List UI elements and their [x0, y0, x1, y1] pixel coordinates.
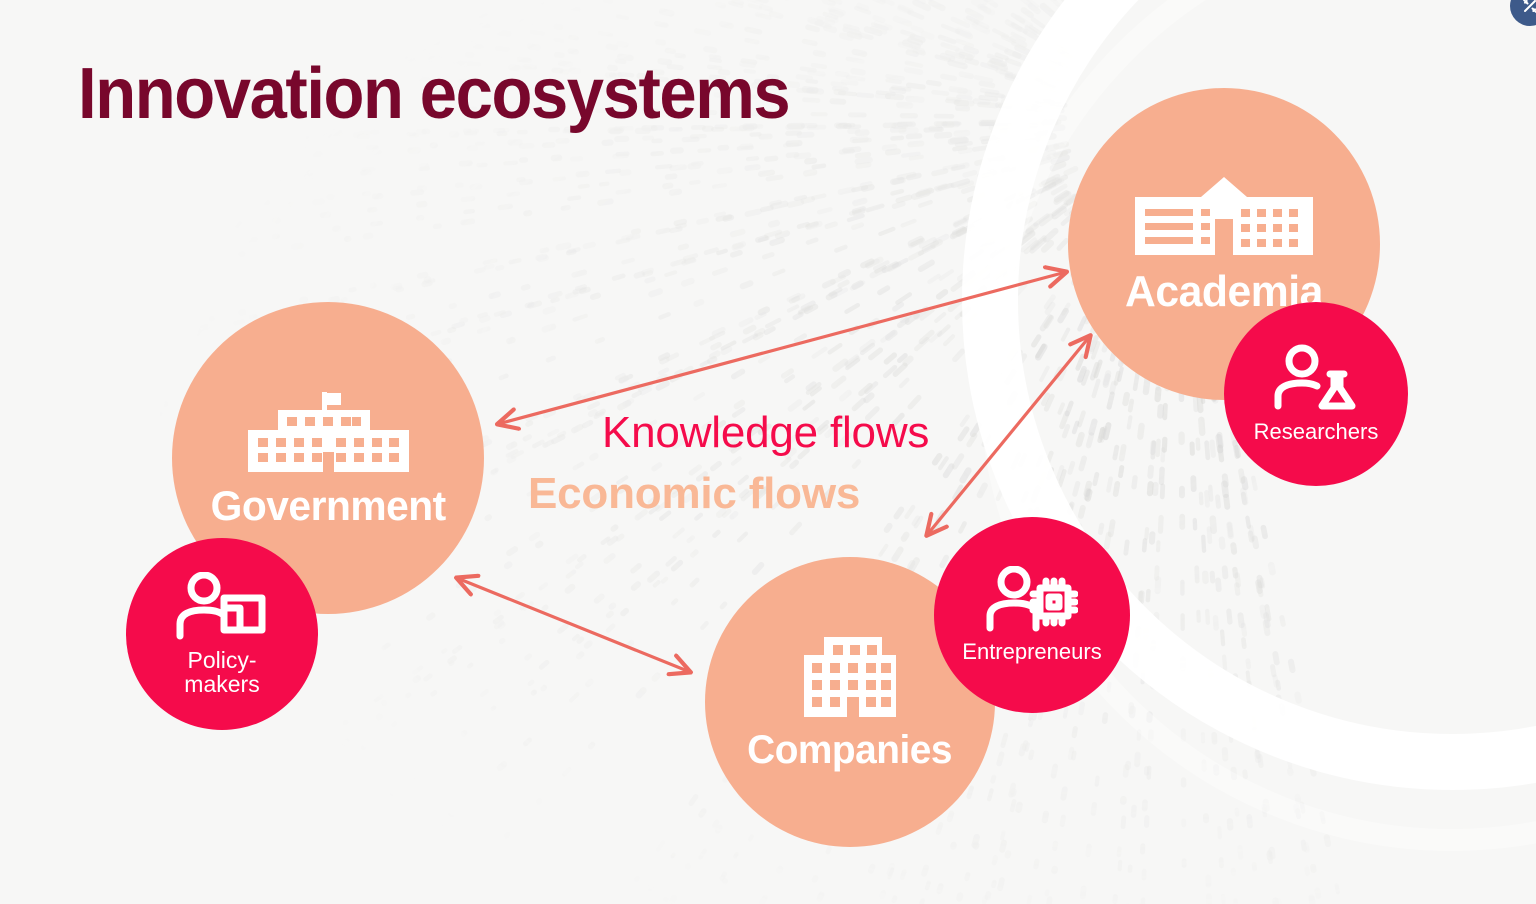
- label-knowledge-flows: Knowledge flows: [602, 411, 929, 455]
- capitol-building-icon: [246, 390, 411, 479]
- person-document-icon: [176, 572, 268, 645]
- badge-policymakers-label: Policy- makers: [184, 648, 259, 696]
- person-flask-icon: [1272, 344, 1360, 417]
- badge-entrepreneurs[interactable]: Entrepreneurs: [934, 517, 1130, 713]
- tool-icon[interactable]: [1510, 0, 1536, 26]
- page-title: Innovation ecosystems: [78, 58, 789, 130]
- node-government-label: Government: [210, 485, 445, 527]
- badge-entrepreneurs-label: Entrepreneurs: [962, 640, 1101, 663]
- node-companies-label: Companies: [748, 730, 953, 770]
- slide-canvas: Innovation ecosystems: [0, 0, 1536, 904]
- person-chip-icon: [986, 566, 1078, 637]
- campus-building-icon: [1129, 175, 1319, 264]
- badge-policymakers[interactable]: Policy- makers: [126, 538, 318, 730]
- badge-researchers[interactable]: Researchers: [1224, 302, 1408, 486]
- label-economic-flows: Economic flows: [528, 472, 860, 516]
- office-building-icon: [802, 635, 898, 724]
- badge-researchers-label: Researchers: [1254, 420, 1379, 443]
- arrow-government-academia: [498, 272, 1066, 424]
- arrow-government-companies: [457, 578, 690, 672]
- arrow-companies-academia: [927, 336, 1090, 535]
